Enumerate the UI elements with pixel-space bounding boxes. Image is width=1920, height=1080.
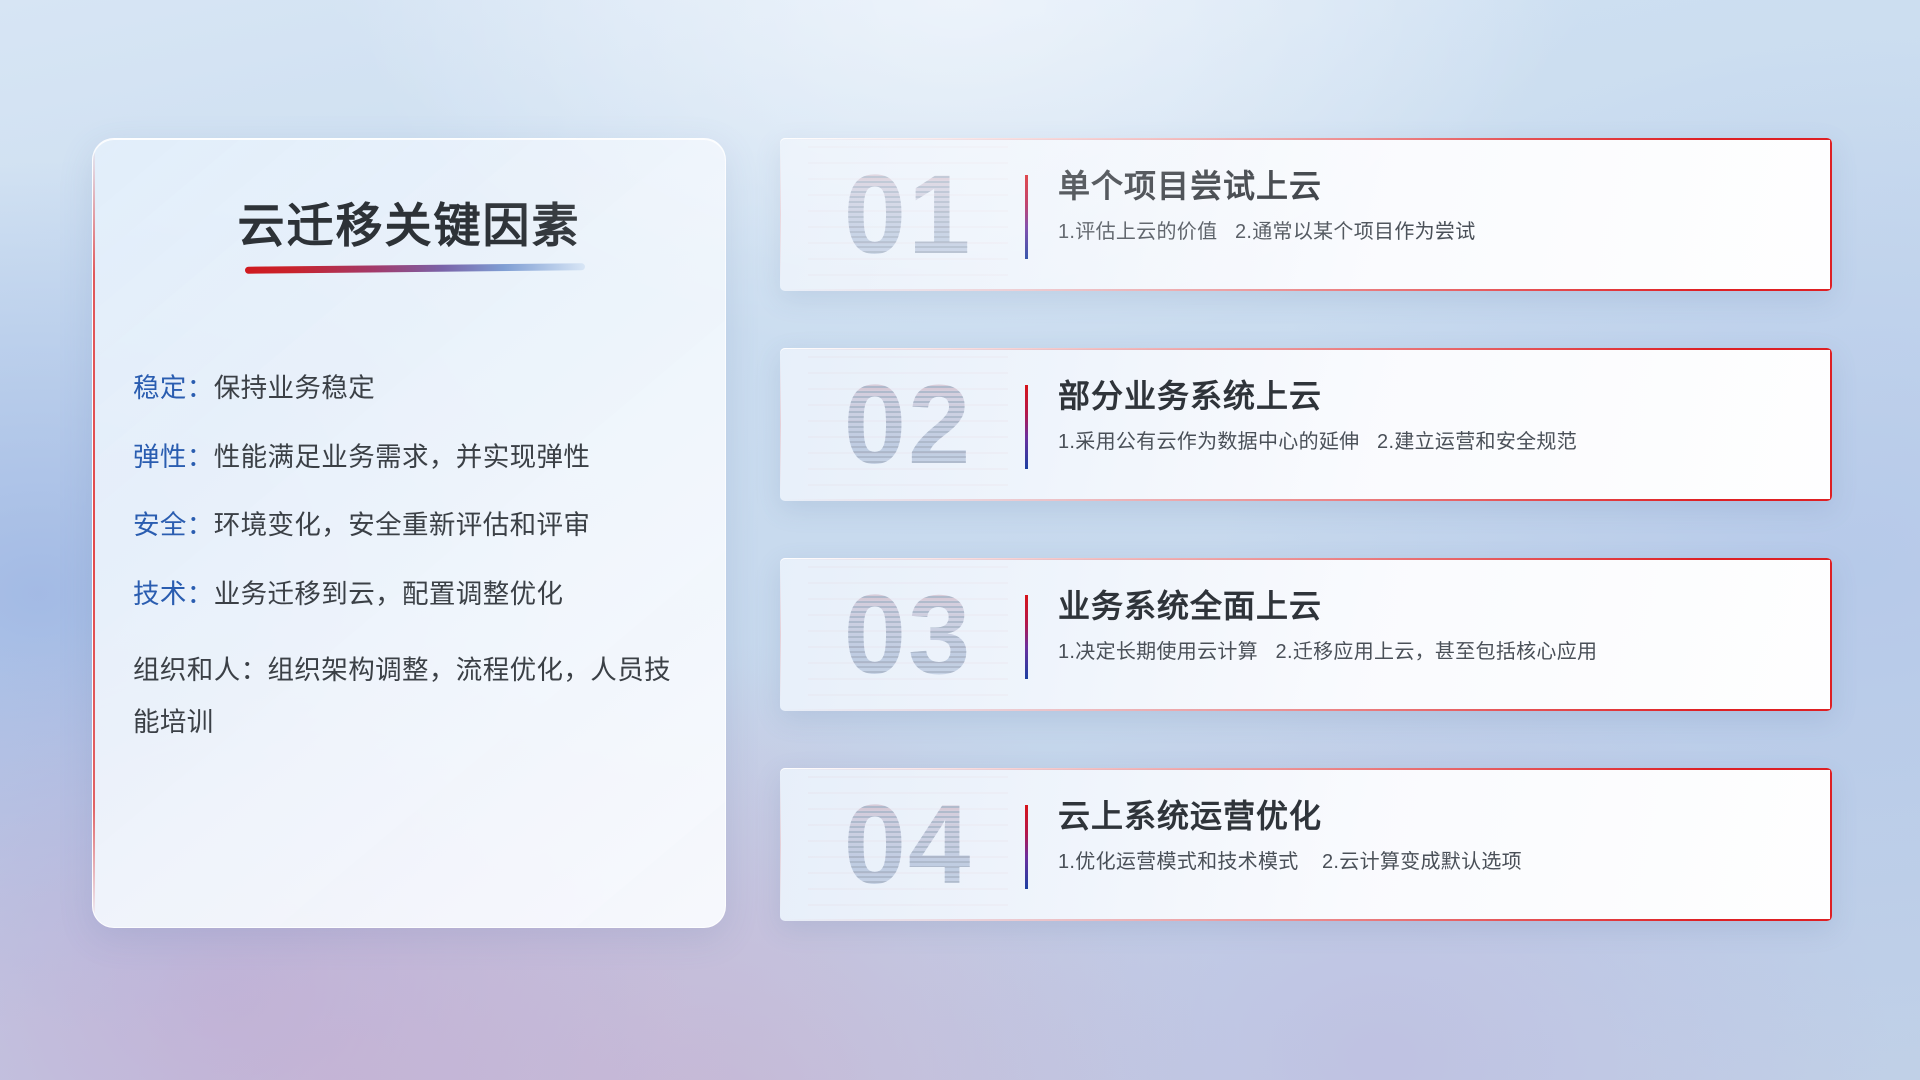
stage-card[interactable]: 04 云上系统运营优化 1.优化运营模式和技术模式 2.云计算变成默认选项 [780, 768, 1832, 921]
card-description: 1.优化运营模式和技术模式 2.云计算变成默认选项 [1058, 850, 1806, 875]
key-factors-panel: 云迁移关键因素 稳定：保持业务稳定 弹性：性能满足业务需求，并实现弹性 安全：环… [92, 138, 726, 928]
card-body: 云上系统运营优化 1.优化运营模式和技术模式 2.云计算变成默认选项 [1058, 798, 1806, 875]
stage-card[interactable]: 02 部分业务系统上云 1.采用公有云作为数据中心的延伸 2.建立运营和安全规范 [780, 348, 1832, 501]
list-item: 组织和人：组织架构调整，流程优化，人员技能培训 [133, 645, 691, 748]
stage-number: 01 [808, 146, 1008, 284]
card-divider-bar [1025, 805, 1028, 889]
panel-left-accent-bar [93, 153, 95, 913]
list-item-key: 稳定： [133, 373, 214, 403]
stage-card[interactable]: 01 单个项目尝试上云 1.评估上云的价值 2.通常以某个项目作为尝试 [780, 138, 1832, 291]
list-item-value: 性能满足业务需求，并实现弹性 [214, 442, 591, 472]
list-item-key: 技术： [133, 579, 214, 609]
migration-stage-cards: 01 单个项目尝试上云 1.评估上云的价值 2.通常以某个项目作为尝试 02 部… [780, 138, 1832, 921]
stage-number: 02 [808, 356, 1008, 494]
slide-canvas: 云迁移关键因素 稳定：保持业务稳定 弹性：性能满足业务需求，并实现弹性 安全：环… [0, 0, 1920, 1080]
list-item: 弹性：性能满足业务需求，并实现弹性 [133, 440, 691, 476]
card-divider-bar [1025, 175, 1028, 259]
key-factors-list: 稳定：保持业务稳定 弹性：性能满足业务需求，并实现弹性 安全：环境变化，安全重新… [133, 371, 691, 748]
card-body: 单个项目尝试上云 1.评估上云的价值 2.通常以某个项目作为尝试 [1058, 168, 1806, 245]
list-item: 稳定：保持业务稳定 [133, 371, 691, 407]
list-item-value: 环境变化，安全重新评估和评审 [214, 510, 591, 540]
card-body: 部分业务系统上云 1.采用公有云作为数据中心的延伸 2.建立运营和安全规范 [1058, 378, 1806, 455]
card-description: 1.评估上云的价值 2.通常以某个项目作为尝试 [1058, 220, 1806, 245]
list-item-value: 保持业务稳定 [214, 373, 375, 403]
card-divider-bar [1025, 595, 1028, 679]
stage-number: 04 [808, 776, 1008, 914]
card-title: 云上系统运营优化 [1058, 798, 1806, 836]
list-item: 技术：业务迁移到云，配置调整优化 [133, 577, 691, 613]
title-underline-rule [245, 263, 585, 274]
list-item: 安全：环境变化，安全重新评估和评审 [133, 508, 691, 544]
card-description: 1.采用公有云作为数据中心的延伸 2.建立运营和安全规范 [1058, 430, 1806, 455]
stage-number: 03 [808, 566, 1008, 704]
list-item-key: 弹性： [133, 442, 214, 472]
card-title: 部分业务系统上云 [1058, 378, 1806, 416]
card-title: 单个项目尝试上云 [1058, 168, 1806, 206]
card-divider-bar [1025, 385, 1028, 469]
page-title: 云迁移关键因素 [93, 187, 725, 256]
stage-card[interactable]: 03 业务系统全面上云 1.决定长期使用云计算 2.迁移应用上云，甚至包括核心应… [780, 558, 1832, 711]
list-item-value: 业务迁移到云，配置调整优化 [214, 579, 564, 609]
card-title: 业务系统全面上云 [1058, 588, 1806, 626]
list-item-key: 安全： [133, 510, 214, 540]
card-body: 业务系统全面上云 1.决定长期使用云计算 2.迁移应用上云，甚至包括核心应用 [1058, 588, 1806, 665]
card-description: 1.决定长期使用云计算 2.迁移应用上云，甚至包括核心应用 [1058, 640, 1806, 665]
list-item-key: 组织和人： [133, 655, 268, 685]
